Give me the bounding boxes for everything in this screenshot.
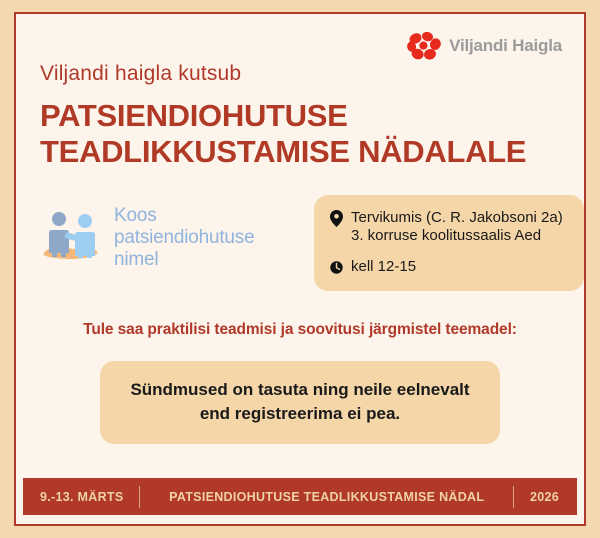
flower-logo-icon xyxy=(407,30,441,62)
two-people-on-hand-icon xyxy=(40,206,108,270)
free-entry-notice: Sündmused on tasuta ning neile eelnevalt… xyxy=(100,361,500,444)
location-pin-icon xyxy=(330,210,343,227)
campaign-logo: Koos patsiendiohutuse nimel xyxy=(40,195,254,271)
clock-icon xyxy=(330,259,343,276)
page-title: PATSIENDIOHUTUSE TEADLIKKUSTAMISE NÄDALA… xyxy=(40,98,560,171)
footer-year: 2026 xyxy=(530,490,577,504)
details-row: Koos patsiendiohutuse nimel Tervikumis (… xyxy=(16,195,584,291)
poster-card: Viljandi Haigla Viljandi haigla kutsub P… xyxy=(14,12,586,526)
event-info-box: Tervikumis (C. R. Jakobsoni 2a) 3. korru… xyxy=(314,195,584,291)
topics-prompt: Tule saa praktilisi teadmisi ja soovitus… xyxy=(16,321,584,339)
campaign-slogan: Koos patsiendiohutuse nimel xyxy=(114,205,254,271)
hospital-brand: Viljandi Haigla xyxy=(407,30,562,62)
info-time: kell 12-15 xyxy=(330,258,570,277)
footer-title: PATSIENDIOHUTUSE TEADLIKKUSTAMISE NÄDAL xyxy=(156,490,497,504)
info-location-text: Tervikumis (C. R. Jakobsoni 2a) 3. korru… xyxy=(351,209,563,247)
info-time-text: kell 12-15 xyxy=(351,258,416,277)
footer-divider-left xyxy=(139,486,140,508)
campaign-footer-bar: 9.-13. MÄRTS PATSIENDIOHUTUSE TEADLIKKUS… xyxy=(23,478,577,515)
info-location: Tervikumis (C. R. Jakobsoni 2a) 3. korru… xyxy=(330,209,570,247)
footer-dates: 9.-13. MÄRTS xyxy=(23,490,123,504)
brand-name-label: Viljandi Haigla xyxy=(449,36,562,56)
poster-header: Viljandi Haigla Viljandi haigla kutsub P… xyxy=(16,14,584,171)
poster-kicker: Viljandi haigla kutsub xyxy=(40,62,560,86)
footer-divider-right xyxy=(513,486,514,508)
